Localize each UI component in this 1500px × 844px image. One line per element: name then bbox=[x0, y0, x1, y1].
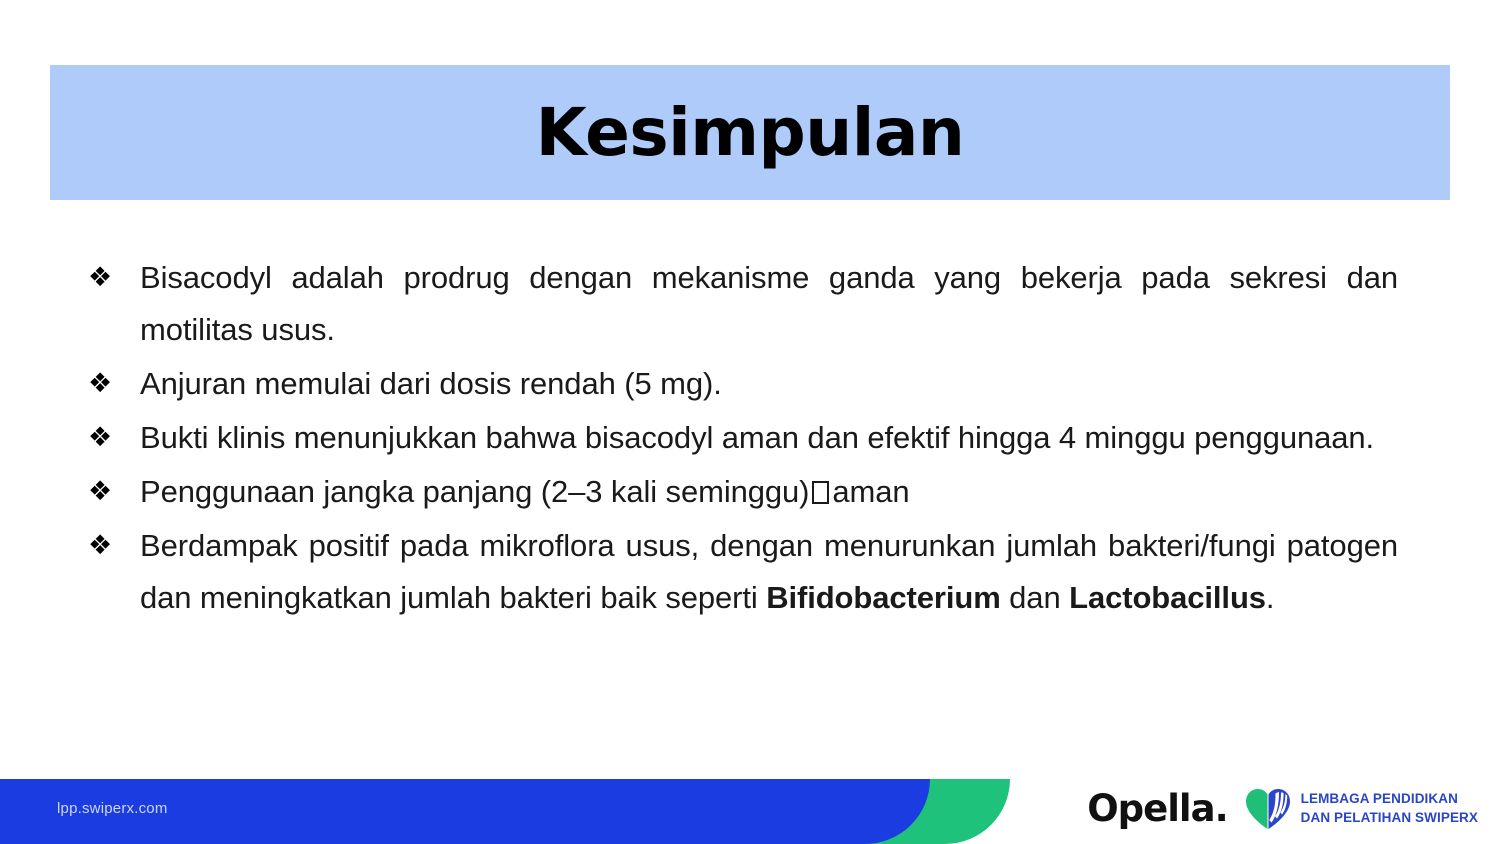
list-item-text: Berdampak positif pada mikroflora usus, … bbox=[140, 520, 1398, 624]
slide: Kesimpulan ❖ Bisacodyl adalah prodrug de… bbox=[0, 0, 1500, 844]
list-item-text: Bukti klinis menunjukkan bahwa bisacodyl… bbox=[140, 412, 1398, 464]
footer-url[interactable]: lpp.swiperx.com bbox=[57, 800, 168, 817]
title-band: Kesimpulan bbox=[50, 65, 1450, 200]
heart-logo-icon bbox=[1244, 787, 1292, 830]
list-item-text-part: dan bbox=[1001, 580, 1069, 615]
diamond-bullet-icon: ❖ bbox=[78, 252, 140, 304]
emphasis-lactobacillus: Lactobacillus bbox=[1069, 580, 1266, 615]
lpp-line-2: DAN PELATIHAN SWIPERX bbox=[1301, 809, 1478, 827]
list-item: ❖ Anjuran memulai dari dosis rendah (5 m… bbox=[78, 358, 1398, 410]
logo-group: Opella. LEMBAGA PENDIDIKAN DAN PELATIHAN… bbox=[1087, 787, 1478, 830]
lpp-logo: LEMBAGA PENDIDIKAN DAN PELATIHAN SWIPERX bbox=[1244, 787, 1478, 830]
diamond-bullet-icon: ❖ bbox=[78, 520, 140, 572]
list-item-text: Bisacodyl adalah prodrug dengan mekanism… bbox=[140, 252, 1398, 356]
list-item: ❖ Berdampak positif pada mikroflora usus… bbox=[78, 520, 1398, 624]
list-item-text-part: . bbox=[1266, 580, 1275, 615]
list-item: ❖ Bukti klinis menunjukkan bahwa bisacod… bbox=[78, 412, 1398, 464]
missing-glyph-box-icon bbox=[812, 481, 829, 504]
bullet-list: ❖ Bisacodyl adalah prodrug dengan mekani… bbox=[78, 252, 1398, 626]
emphasis-bifidobacterium: Bifidobacterium bbox=[766, 580, 1000, 615]
list-item-text: Penggunaan jangka panjang (2–3 kali semi… bbox=[140, 466, 1398, 518]
list-item-text-part: aman bbox=[832, 474, 909, 509]
list-item-text-part: Penggunaan jangka panjang (2–3 kali semi… bbox=[140, 474, 809, 509]
opella-wordmark: Opella. bbox=[1087, 790, 1227, 827]
diamond-bullet-icon: ❖ bbox=[78, 466, 140, 518]
list-item: ❖ Penggunaan jangka panjang (2–3 kali se… bbox=[78, 466, 1398, 518]
list-item: ❖ Bisacodyl adalah prodrug dengan mekani… bbox=[78, 252, 1398, 356]
list-item-text: Anjuran memulai dari dosis rendah (5 mg)… bbox=[140, 358, 1398, 410]
lpp-line-1: LEMBAGA PENDIDIKAN bbox=[1301, 790, 1478, 808]
lpp-wordmark: LEMBAGA PENDIDIKAN DAN PELATIHAN SWIPERX bbox=[1301, 790, 1478, 826]
diamond-bullet-icon: ❖ bbox=[78, 358, 140, 410]
diamond-bullet-icon: ❖ bbox=[78, 412, 140, 464]
page-title: Kesimpulan bbox=[536, 100, 965, 166]
